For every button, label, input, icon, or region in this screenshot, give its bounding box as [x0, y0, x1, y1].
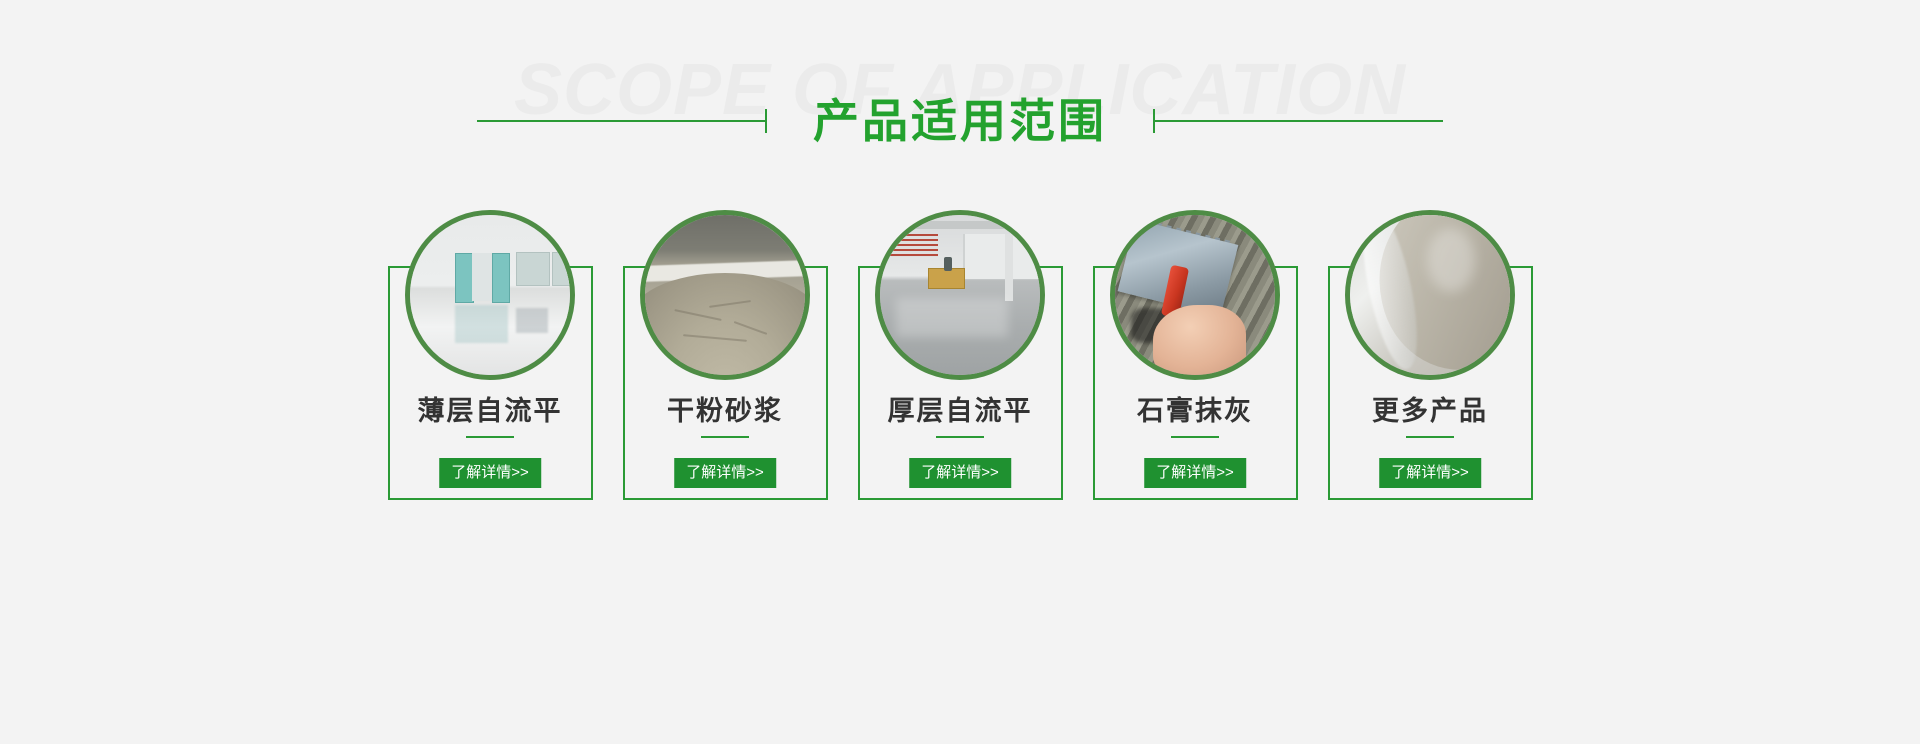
card-title-underline	[936, 436, 984, 438]
card-title-underline	[1406, 436, 1454, 438]
product-card-thick-layer-self-leveling[interactable]: 厚层自流平 了解详情>>	[858, 210, 1063, 500]
card-title-underline	[1171, 436, 1219, 438]
card-title: 干粉砂浆	[623, 398, 828, 425]
trowel-photo-art	[1115, 215, 1275, 375]
product-card-more-products[interactable]: 更多产品 了解详情>>	[1328, 210, 1533, 500]
dome-photo-art	[1350, 215, 1510, 375]
learn-more-button[interactable]: 了解详情>>	[439, 458, 541, 488]
floor-photo-art	[410, 215, 570, 375]
card-title-underline	[701, 436, 749, 438]
card-title: 更多产品	[1328, 398, 1533, 425]
product-image-dry-powder-mortar	[640, 210, 810, 380]
section-header: SCOPE OF APPLICATION 产品适用范围	[0, 0, 1920, 210]
title-rule-left	[477, 120, 767, 122]
card-title: 薄层自流平	[388, 398, 593, 425]
powder-photo-art	[645, 215, 805, 375]
title-rule-right	[1153, 120, 1443, 122]
learn-more-button[interactable]: 了解详情>>	[909, 458, 1011, 488]
card-title-underline	[466, 436, 514, 438]
page-title: 产品适用范围	[767, 98, 1153, 144]
product-image-gypsum-plastering	[1110, 210, 1280, 380]
product-image-thick-layer-self-leveling	[875, 210, 1045, 380]
learn-more-button[interactable]: 了解详情>>	[674, 458, 776, 488]
card-title: 石膏抹灰	[1093, 398, 1298, 425]
product-card-gypsum-plastering[interactable]: 石膏抹灰 了解详情>>	[1093, 210, 1298, 500]
product-image-thin-layer-self-leveling	[405, 210, 575, 380]
product-card-list: 薄层自流平 了解详情>> 干粉砂浆 了解详情>> 厚层自流平	[0, 210, 1920, 540]
product-card-thin-layer-self-leveling[interactable]: 薄层自流平 了解详情>>	[388, 210, 593, 500]
learn-more-button[interactable]: 了解详情>>	[1144, 458, 1246, 488]
learn-more-button[interactable]: 了解详情>>	[1379, 458, 1481, 488]
hall-photo-art	[880, 215, 1040, 375]
title-row: 产品适用范围	[0, 98, 1920, 144]
card-title: 厚层自流平	[858, 398, 1063, 425]
product-image-more-products	[1345, 210, 1515, 380]
product-card-dry-powder-mortar[interactable]: 干粉砂浆 了解详情>>	[623, 210, 828, 500]
